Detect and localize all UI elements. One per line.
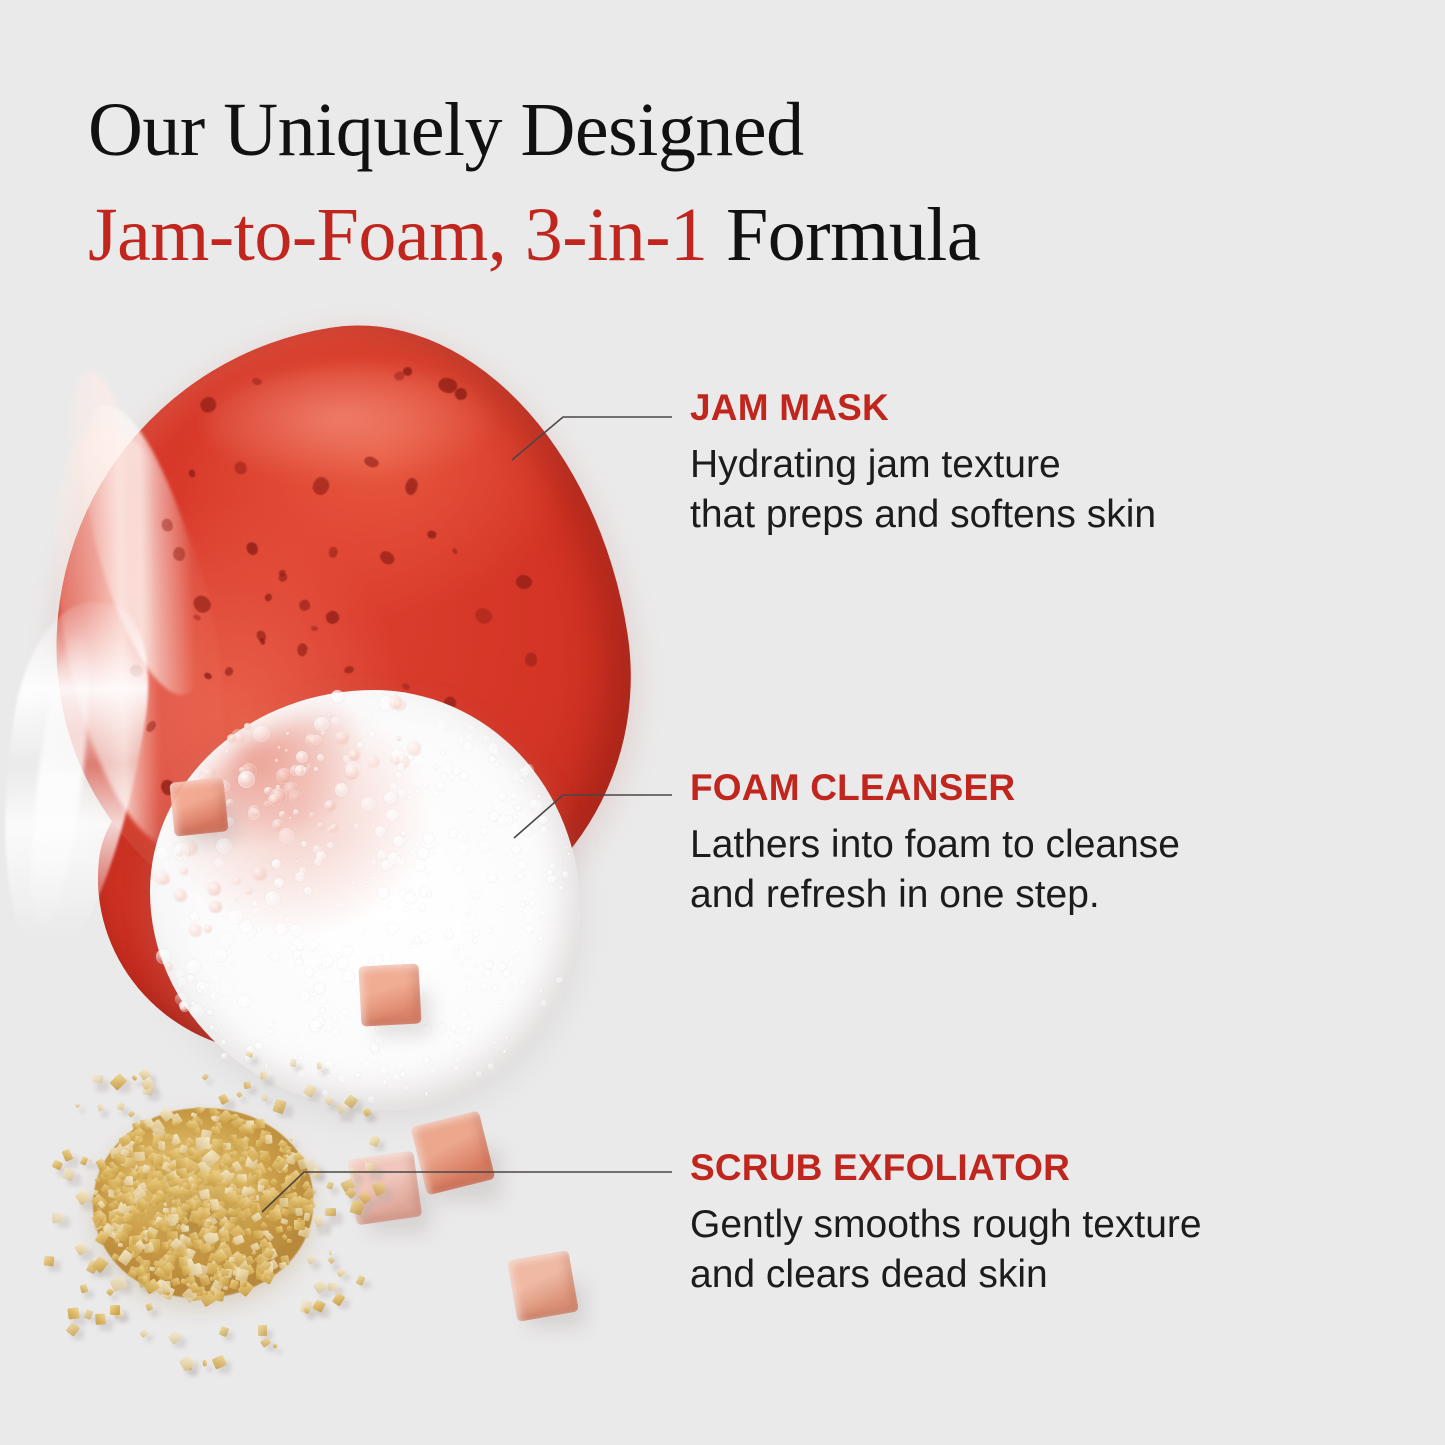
feature-title-scrub-exfoliator: SCRUB EXFOLIATOR (690, 1148, 1290, 1189)
feature-desc-line: Lathers into foam to cleanse (690, 820, 1290, 871)
feature-block-jam-mask: JAM MASK Hydrating jam texture that prep… (690, 388, 1290, 541)
feature-desc-line: Hydrating jam texture (690, 440, 1290, 491)
feature-desc-line: that preps and softens skin (690, 490, 1290, 541)
feature-desc-line: and refresh in one step. (690, 870, 1290, 921)
feature-desc-foam-cleanser: Lathers into foam to cleanse and refresh… (690, 820, 1290, 921)
leader-path-scrub-exfoliator (262, 1172, 672, 1212)
infographic-page: Our Uniquely Designed Jam-to-Foam, 3-in-… (0, 0, 1445, 1445)
feature-block-foam-cleanser: FOAM CLEANSER Lathers into foam to clean… (690, 768, 1290, 921)
feature-desc-scrub-exfoliator: Gently smooths rough texture and clears … (690, 1200, 1290, 1301)
feature-desc-jam-mask: Hydrating jam texture that preps and sof… (690, 440, 1290, 541)
feature-desc-line: and clears dead skin (690, 1250, 1290, 1301)
feature-desc-line: Gently smooths rough texture (690, 1200, 1290, 1251)
feature-block-scrub-exfoliator: SCRUB EXFOLIATOR Gently smooths rough te… (690, 1148, 1290, 1301)
feature-title-foam-cleanser: FOAM CLEANSER (690, 768, 1290, 809)
feature-title-jam-mask: JAM MASK (690, 388, 1290, 429)
